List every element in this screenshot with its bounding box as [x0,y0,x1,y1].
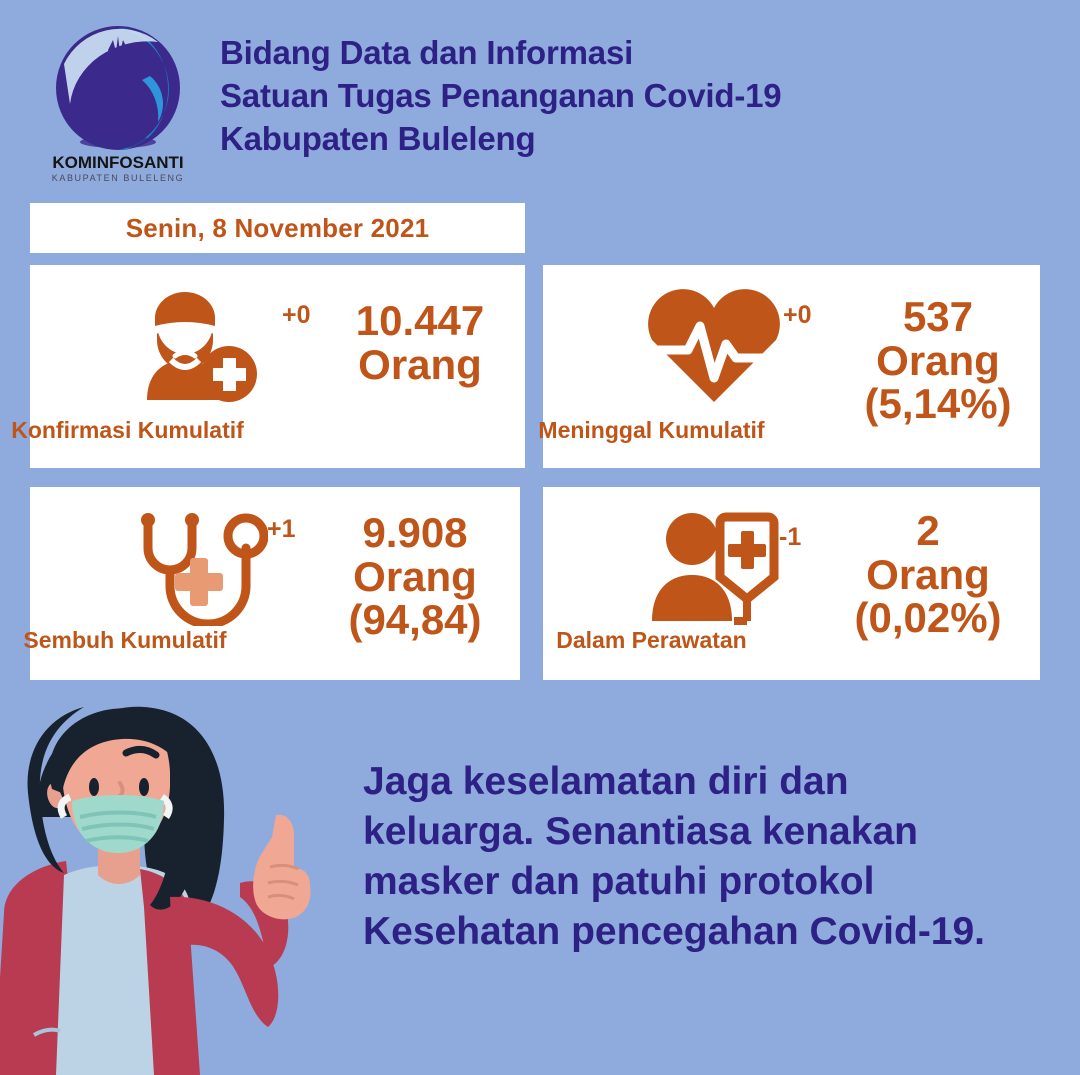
value-block: 537 Orang (5,14%) [838,295,1038,426]
heart-ecg-down-icon [639,285,789,405]
woman-with-mask-pointing-illustration [0,697,364,1075]
delta-badge: +0 [282,301,311,330]
kominfosanti-logo: KOMINFOSANTI KABUPATEN BULELENG [38,18,198,188]
date-text: Senin, 8 November 2021 [126,213,430,244]
card-label: Dalam Perawatan [403,627,900,654]
message-line-2: keluarga. Senantiasa kenakan [363,807,1063,857]
delta-badge: +0 [783,301,812,330]
value-number: 537 [838,295,1038,339]
sick-person-plus-icon [126,285,276,405]
health-message: Jaga keselamatan diri dan keluarga. Sena… [363,757,1063,957]
value-unit: Orang [320,555,510,599]
stat-card-perawatan: -1 2 Orang (0,02%) Dalam Perawatan [543,487,1040,680]
header-title-block: Bidang Data dan Informasi Satuan Tugas P… [220,32,781,161]
value-block: 2 Orang (0,02%) [828,509,1028,640]
card-label: Sembuh Kumulatif [0,627,370,654]
header-line-2: Satuan Tugas Penanganan Covid-19 [220,75,781,118]
page-header: KOMINFOSANTI KABUPATEN BULELENG Bidang D… [0,0,1080,190]
logo-wordmark: KOMINFOSANTI [52,153,183,172]
value-number: 2 [828,509,1028,553]
message-line-3: masker dan patuhi protokol [363,857,1063,907]
header-line-1: Bidang Data dan Informasi [220,32,781,75]
delta-badge: +1 [267,515,296,544]
header-line-3: Kabupaten Buleleng [220,118,781,161]
stethoscope-cross-icon [126,507,276,627]
value-block: 9.908 Orang (94,84) [320,511,510,642]
card-label: Meninggal Kumulatif [403,417,900,444]
value-block: 10.447 Orang [330,299,510,386]
logo-subtext: KABUPATEN BULELENG [52,173,185,183]
delta-badge: -1 [779,523,801,552]
value-number: 10.447 [330,299,510,343]
message-line-4: Kesehatan pencegahan Covid-19. [363,907,1063,957]
value-unit: Orang [330,343,510,387]
patient-iv-drip-icon [639,507,789,627]
value-number: 9.908 [320,511,510,555]
message-line-1: Jaga keselamatan diri dan [363,757,1063,807]
value-unit: Orang [828,553,1028,597]
card-label: Konfirmasi Kumulatif [0,417,375,444]
date-banner: Senin, 8 November 2021 [30,203,525,253]
value-unit: Orang [838,339,1038,383]
stat-card-meninggal: +0 537 Orang (5,14%) Meninggal Kumulatif [543,265,1040,468]
